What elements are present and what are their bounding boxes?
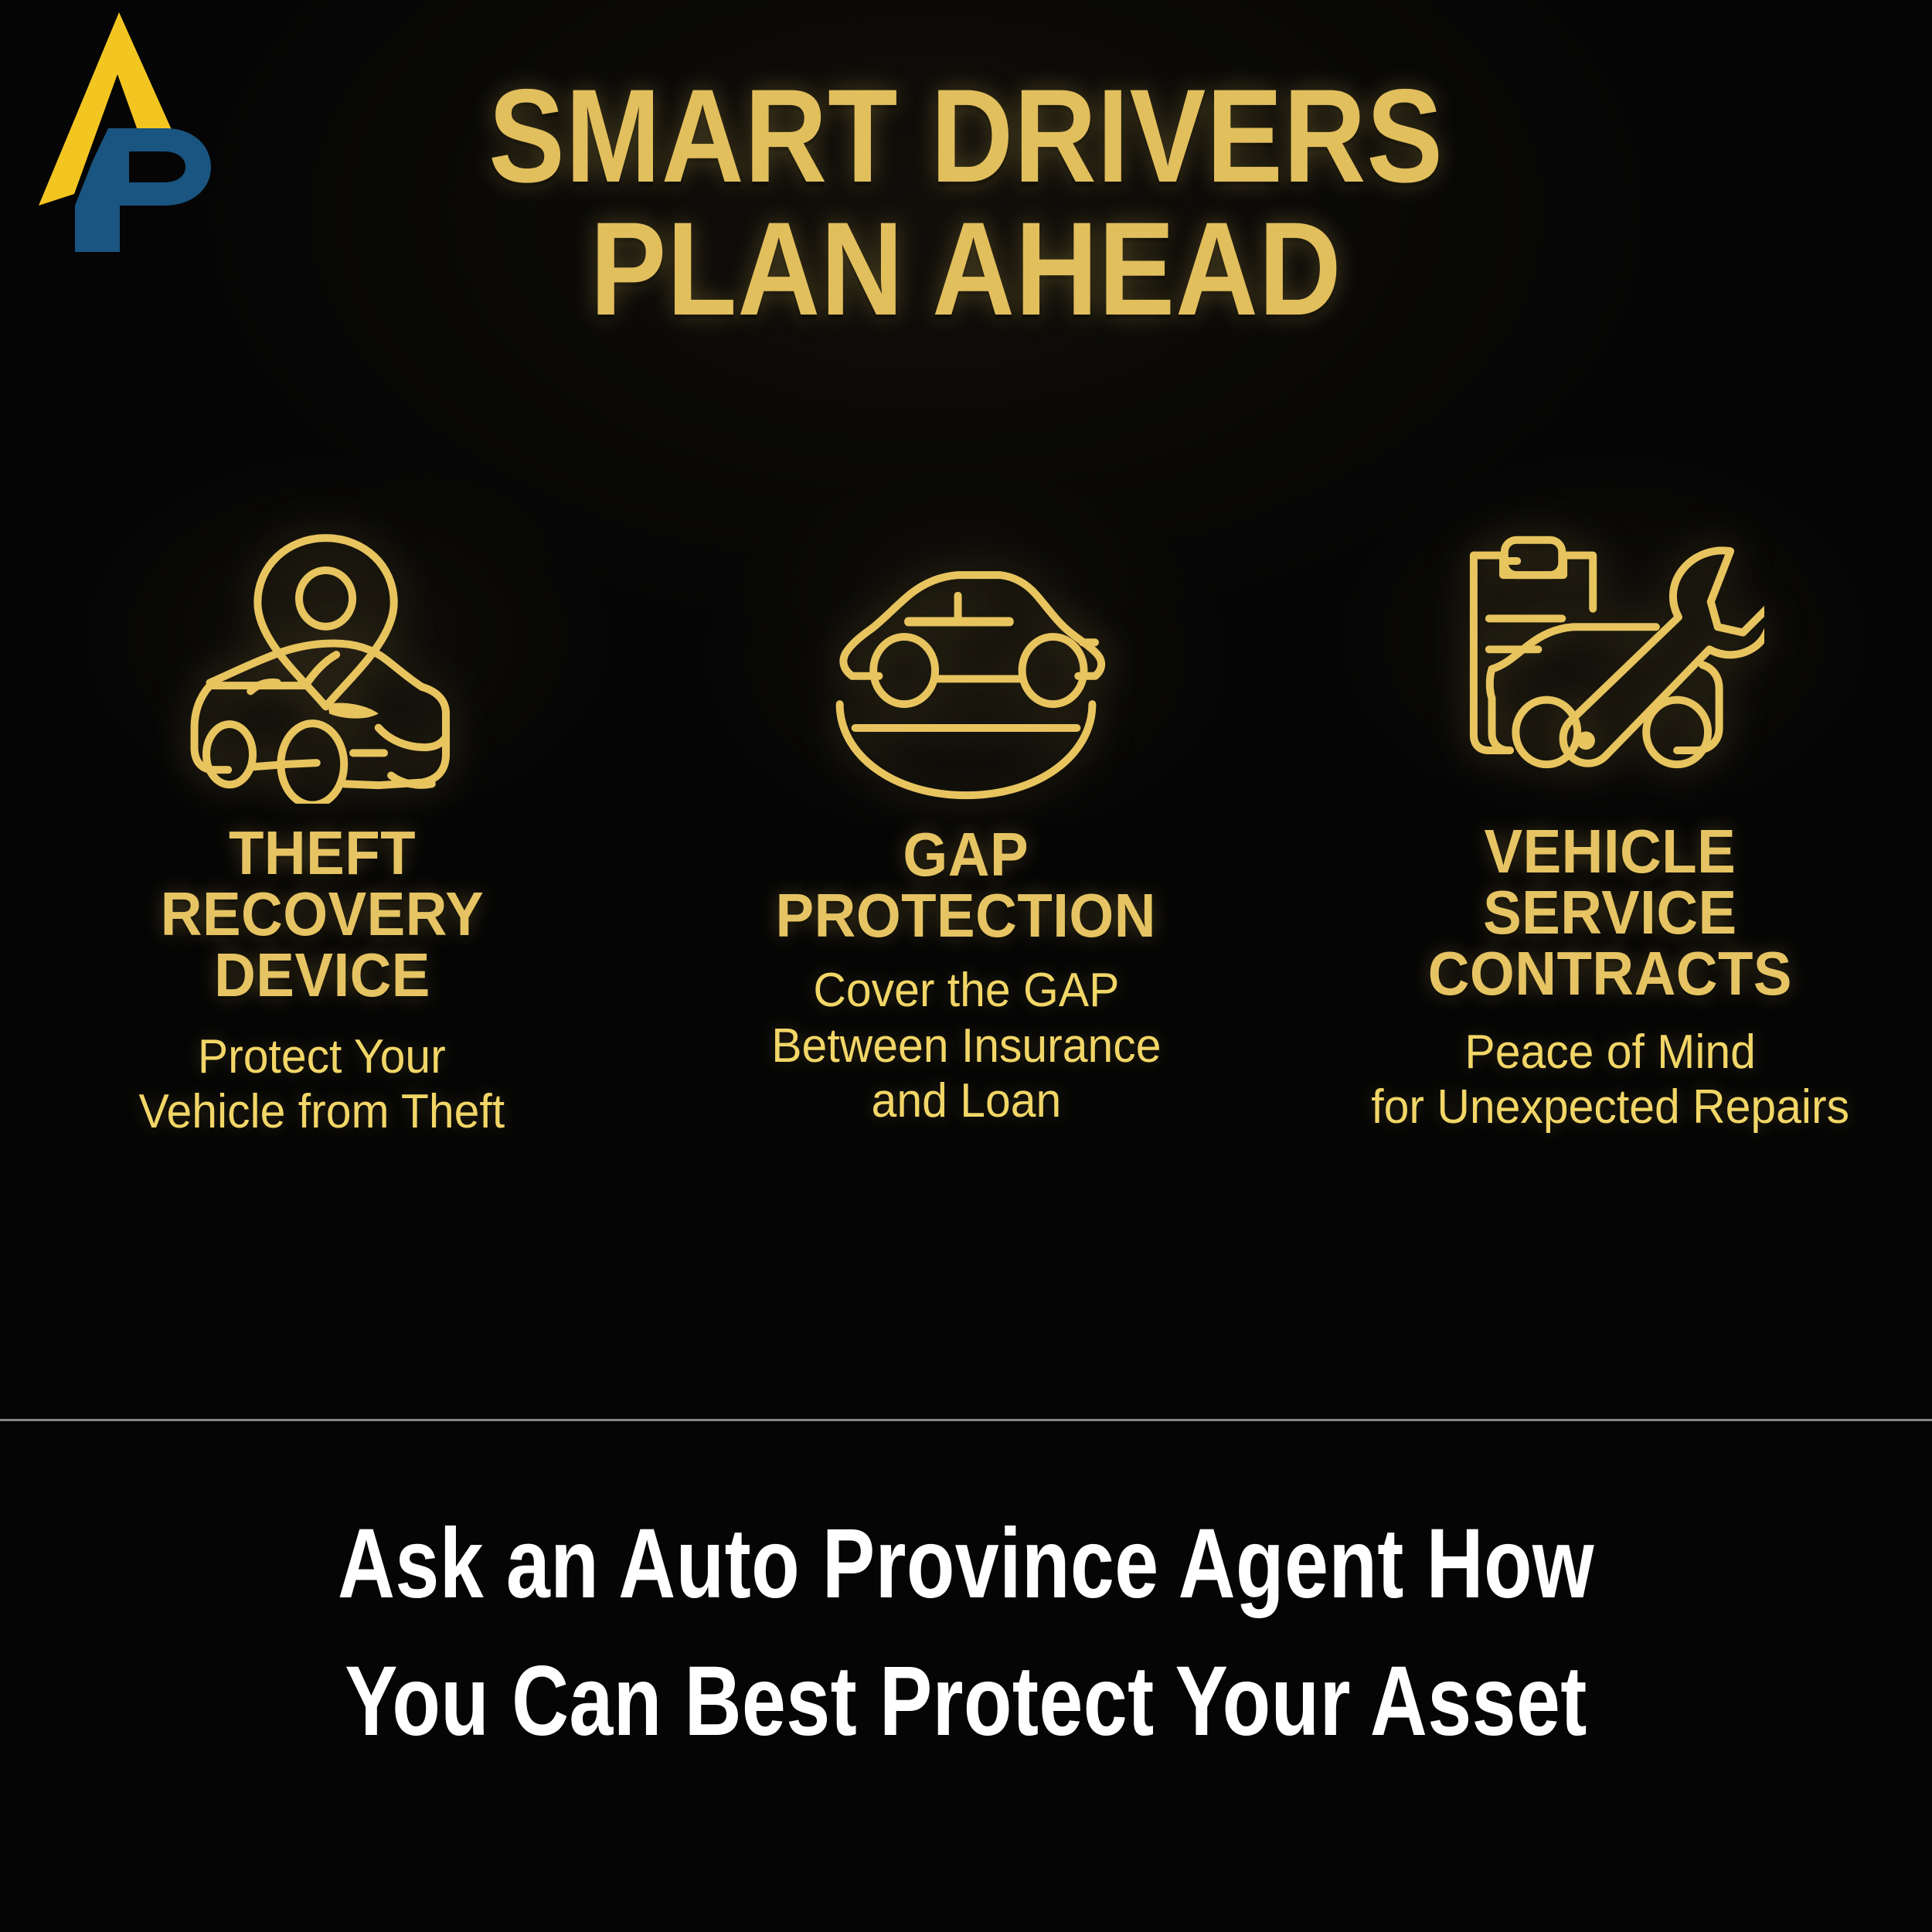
feature-subtitle-theft-recovery-device: Protect Your Vehicle from Theft [139, 1029, 505, 1140]
feature-subtitle-line: Peace of Mind [1464, 1026, 1756, 1079]
feature-title-line: RECOVERY [160, 879, 484, 948]
feature-title-line: CONTRACTS [1428, 939, 1792, 1008]
feature-card-vehicle-service-contracts: VEHICLE SERVICE CONTRACTS Peace of Mind … [1288, 495, 1932, 1360]
feature-title-line: VEHICLE [1484, 817, 1736, 886]
feature-subtitle-vehicle-service-contracts: Peace of Mind for Unexpected Repairs [1371, 1025, 1849, 1135]
feature-title-theft-recovery-device: THEFT RECOVERY DEVICE [160, 822, 484, 1006]
feature-subtitle-gap-protection: Cover the GAP Between Insurance and Loan [771, 963, 1161, 1128]
cta-line-1: Ask an Auto Province Agent How [193, 1515, 1739, 1614]
feature-subtitle-line: and Loan [871, 1074, 1061, 1128]
feature-title-line: SERVICE [1483, 878, 1737, 947]
feature-card-gap-protection: GAP PROTECTION Cover the GAP Between Ins… [644, 495, 1287, 1360]
feature-title-line: THEFT [229, 818, 416, 887]
clipboard-car-wrench-icon [1455, 495, 1764, 804]
feature-subtitle-line: for Unexpected Repairs [1371, 1080, 1849, 1134]
feature-title-line: GAP [903, 820, 1029, 889]
feature-subtitle-line: Between Insurance [771, 1019, 1161, 1073]
feature-title-vehicle-service-contracts: VEHICLE SERVICE CONTRACTS [1428, 821, 1792, 1005]
cta-line-2: You Can Best Protect Your Asset [193, 1652, 1739, 1751]
feature-subtitle-line: Vehicle from Theft [139, 1085, 505, 1138]
feature-title-gap-protection: GAP PROTECTION [776, 824, 1156, 946]
car-location-pin-icon [168, 495, 477, 804]
shield-arc [840, 704, 1093, 795]
feature-subtitle-line: Protect Your [198, 1030, 446, 1083]
wrench-pivot-dot [1577, 732, 1596, 750]
feature-title-line: PROTECTION [776, 881, 1156, 950]
car-roof-marker-post [954, 592, 962, 621]
feature-subtitle-line: Cover the GAP [813, 964, 1119, 1017]
page-title-line-1: SMART DRIVERS [135, 83, 1797, 190]
feature-card-theft-recovery-device: THEFT RECOVERY DEVICE Protect Your Vehic… [0, 495, 644, 1360]
feature-title-line: DEVICE [214, 940, 430, 1009]
feature-columns: THEFT RECOVERY DEVICE Protect Your Vehic… [0, 495, 1932, 1360]
section-divider [0, 1419, 1932, 1421]
car-mirror-shape [328, 703, 378, 719]
page-title-line-2: PLAN AHEAD [135, 216, 1797, 323]
page-title: SMART DRIVERS PLAN AHEAD [0, 83, 1932, 322]
car-roof-marker-bar [904, 617, 1014, 627]
call-to-action: Ask an Auto Province Agent How You Can B… [0, 1515, 1932, 1751]
car-shield-icon [811, 495, 1121, 804]
